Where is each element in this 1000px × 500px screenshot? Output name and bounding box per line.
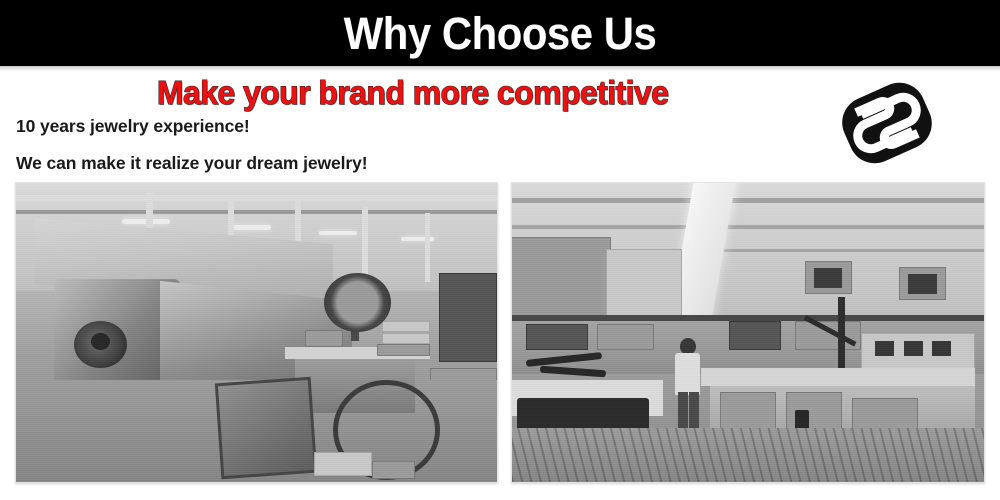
plating-workshop-photo-content <box>512 183 984 482</box>
factory-aisle-photo <box>15 182 498 483</box>
banner-fade-divider <box>0 66 1000 71</box>
title-banner: Why Choose Us <box>0 0 1000 66</box>
page-title: Why Choose Us <box>344 11 657 56</box>
headline-text: Make your brand more competitive <box>157 76 668 111</box>
subheadings: 10 years jewelry experience! We can make… <box>16 118 536 172</box>
factory-aisle-photo-content <box>16 183 497 482</box>
photo-row <box>0 182 1000 485</box>
interlocking-double-s-logo-icon <box>826 79 948 167</box>
plating-workshop-photo <box>511 182 985 483</box>
subline-experience: 10 years jewelry experience! <box>16 118 536 136</box>
why-choose-us-banner: Why Choose Us Make your brand more compe… <box>0 0 1000 500</box>
company-logo <box>826 79 948 167</box>
subline-dream-jewelry: We can make it realize your dream jewelr… <box>16 155 536 173</box>
